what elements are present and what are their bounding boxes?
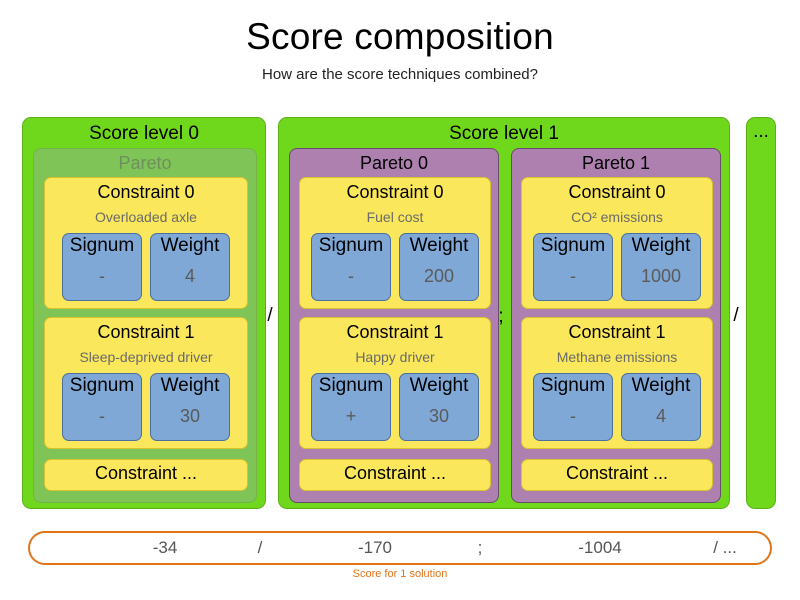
signum-label: Signum (312, 375, 390, 397)
score-composition-diagram: Score composition How are the score tech… (0, 0, 800, 600)
score-value-pareto1: -1004 (540, 538, 660, 558)
pareto-group-level0[interactable]: Pareto Constraint 0 Overloaded axle Sign… (33, 148, 257, 503)
weight-value: 1000 (622, 266, 700, 287)
score-value-pareto0: -170 (320, 538, 430, 558)
signum-value: - (63, 406, 141, 427)
constraint-chips: Signum - Weight 4 (45, 233, 247, 301)
constraint-more-label: Constraint ... (300, 463, 490, 484)
weight-label: Weight (151, 235, 229, 257)
signum-chip[interactable]: Signum - (533, 373, 613, 441)
constraint-chips: Signum - Weight 200 (300, 233, 490, 301)
constraint-more-card[interactable]: Constraint ... (44, 459, 248, 491)
pareto-group-0[interactable]: Pareto 0 Constraint 0 Fuel cost Signum -… (289, 148, 499, 503)
weight-label: Weight (151, 375, 229, 397)
weight-value: 4 (622, 406, 700, 427)
constraint-card[interactable]: Constraint 1 Happy driver Signum + Weigh… (299, 317, 491, 449)
weight-value: 30 (400, 406, 478, 427)
weight-chip[interactable]: Weight 200 (399, 233, 479, 301)
signum-label: Signum (63, 375, 141, 397)
constraint-name: Constraint 0 (45, 182, 247, 203)
score-level-0-panel[interactable]: Score level 0 Pareto Constraint 0 Overlo… (22, 117, 266, 509)
constraint-name: Constraint 0 (522, 182, 712, 203)
separator-slash-level1-more: / (726, 305, 746, 327)
signum-label: Signum (534, 375, 612, 397)
constraint-card[interactable]: Constraint 1 Methane emissions Signum - … (521, 317, 713, 449)
signum-chip[interactable]: Signum - (62, 233, 142, 301)
constraint-chips: Signum + Weight 30 (300, 373, 490, 441)
signum-chip[interactable]: Signum - (62, 373, 142, 441)
constraint-more-card[interactable]: Constraint ... (299, 459, 491, 491)
score-separator-2: ; (460, 538, 500, 558)
constraint-description: CO² emissions (522, 209, 712, 225)
signum-value: - (312, 266, 390, 287)
separator-slash-level0-level1: / (260, 305, 280, 327)
signum-chip[interactable]: Signum + (311, 373, 391, 441)
weight-label: Weight (622, 235, 700, 257)
signum-label: Signum (63, 235, 141, 257)
weight-label: Weight (400, 375, 478, 397)
page-subtitle: How are the score techniques combined? (0, 66, 800, 83)
signum-value: + (312, 406, 390, 427)
constraint-description: Happy driver (300, 349, 490, 365)
signum-value: - (63, 266, 141, 287)
pareto-group-label: Pareto (34, 153, 256, 174)
score-level-0-title: Score level 0 (23, 123, 265, 145)
weight-value: 4 (151, 266, 229, 287)
constraint-more-label: Constraint ... (45, 463, 247, 484)
constraint-card[interactable]: Constraint 0 CO² emissions Signum - Weig… (521, 177, 713, 309)
constraint-card[interactable]: Constraint 1 Sleep-deprived driver Signu… (44, 317, 248, 449)
constraint-name: Constraint 0 (300, 182, 490, 203)
signum-value: - (534, 406, 612, 427)
signum-label: Signum (534, 235, 612, 257)
weight-chip[interactable]: Weight 1000 (621, 233, 701, 301)
pareto-group-1[interactable]: Pareto 1 Constraint 0 CO² emissions Sign… (511, 148, 721, 503)
constraint-name: Constraint 1 (522, 322, 712, 343)
constraint-more-card[interactable]: Constraint ... (521, 459, 713, 491)
score-bar-caption: Score for 1 solution (0, 568, 800, 580)
constraint-name: Constraint 1 (45, 322, 247, 343)
signum-label: Signum (312, 235, 390, 257)
pareto-group-label: Pareto 1 (512, 153, 720, 174)
score-summary-bar: -34 / -170 ; -1004 / ... (28, 531, 772, 565)
weight-value: 200 (400, 266, 478, 287)
weight-label: Weight (622, 375, 700, 397)
score-level-1-title: Score level 1 (279, 123, 729, 145)
weight-chip[interactable]: Weight 30 (399, 373, 479, 441)
constraint-description: Sleep-deprived driver (45, 349, 247, 365)
score-level-more-title: ... (747, 121, 775, 143)
weight-value: 30 (151, 406, 229, 427)
score-level-1-panel[interactable]: Score level 1 Pareto 0 Constraint 0 Fuel… (278, 117, 730, 509)
signum-chip[interactable]: Signum - (533, 233, 613, 301)
weight-label: Weight (400, 235, 478, 257)
constraint-description: Fuel cost (300, 209, 490, 225)
score-value-level0: -34 (110, 538, 220, 558)
pareto-group-label: Pareto 0 (290, 153, 498, 174)
constraint-card[interactable]: Constraint 0 Fuel cost Signum - Weight 2… (299, 177, 491, 309)
separator-semicolon-pareto: ; (491, 306, 511, 328)
score-separator-1: / (240, 538, 280, 558)
constraint-chips: Signum - Weight 4 (522, 373, 712, 441)
constraint-description: Methane emissions (522, 349, 712, 365)
weight-chip[interactable]: Weight 4 (150, 233, 230, 301)
score-level-more-panel[interactable]: ... (746, 117, 776, 509)
score-value-more: / ... (690, 538, 760, 558)
constraint-chips: Signum - Weight 1000 (522, 233, 712, 301)
constraint-name: Constraint 1 (300, 322, 490, 343)
constraint-description: Overloaded axle (45, 209, 247, 225)
signum-chip[interactable]: Signum - (311, 233, 391, 301)
constraint-more-label: Constraint ... (522, 463, 712, 484)
constraint-card[interactable]: Constraint 0 Overloaded axle Signum - We… (44, 177, 248, 309)
constraint-chips: Signum - Weight 30 (45, 373, 247, 441)
weight-chip[interactable]: Weight 30 (150, 373, 230, 441)
signum-value: - (534, 266, 612, 287)
page-title: Score composition (0, 16, 800, 58)
weight-chip[interactable]: Weight 4 (621, 373, 701, 441)
